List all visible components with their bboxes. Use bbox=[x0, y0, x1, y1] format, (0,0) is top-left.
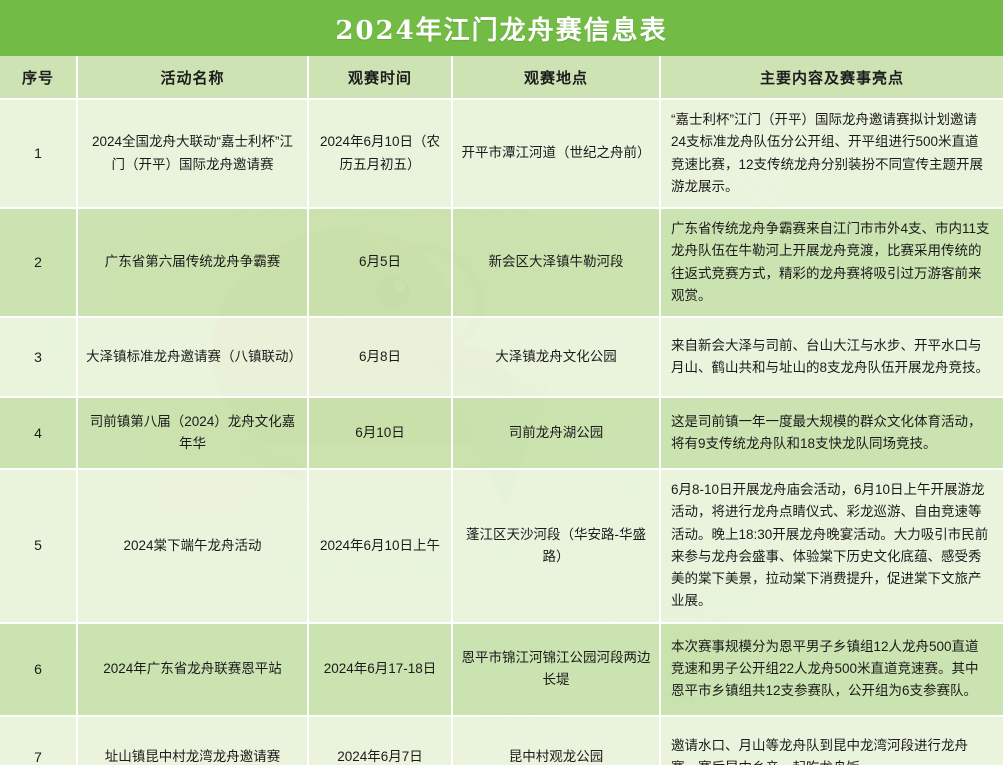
cell-event-name: 2024全国龙舟大联动“嘉士利杯”江门（开平）国际龙舟邀请赛 bbox=[77, 99, 308, 208]
cell-index: 1 bbox=[0, 99, 77, 208]
cell-event-name: 司前镇第八届（2024）龙舟文化嘉年华 bbox=[77, 397, 308, 469]
cell-highlights: 来自新会大泽与司前、台山大江与水步、开平水口与月山、鹤山共和与址山的8支龙舟队伍… bbox=[660, 317, 1003, 397]
cell-index: 2 bbox=[0, 208, 77, 317]
cell-highlights: 广东省传统龙舟争霸赛来自江门市市外4支、市内11支龙舟队伍在牛勒河上开展龙舟竞渡… bbox=[660, 208, 1003, 317]
cell-index: 4 bbox=[0, 397, 77, 469]
table-container: 序号 活动名称 观赛时间 观赛地点 主要内容及赛事亮点 1 2024全国龙舟大联… bbox=[0, 56, 1003, 765]
cell-location: 蓬江区天沙河段（华安路-华盛路） bbox=[452, 469, 660, 623]
table-row: 6 2024年广东省龙舟联赛恩平站 2024年6月17-18日 恩平市锦江河锦江… bbox=[0, 623, 1003, 716]
cell-time: 2024年6月10日上午 bbox=[308, 469, 452, 623]
page-title: 2024年江门龙舟赛信息表 bbox=[335, 10, 667, 47]
cell-event-name: 2024棠下端午龙舟活动 bbox=[77, 469, 308, 623]
cell-location: 大泽镇龙舟文化公园 bbox=[452, 317, 660, 397]
table-row: 2 广东省第六届传统龙舟争霸赛 6月5日 新会区大泽镇牛勒河段 广东省传统龙舟争… bbox=[0, 208, 1003, 317]
cell-time: 6月10日 bbox=[308, 397, 452, 469]
cell-index: 5 bbox=[0, 469, 77, 623]
page-title-bar: 2024年江门龙舟赛信息表 bbox=[0, 0, 1003, 56]
cell-index: 7 bbox=[0, 716, 77, 765]
cell-highlights: 邀请水口、月山等龙舟队到昆中龙湾河段进行龙舟赛，赛后昆中乡亲一起吃龙舟饭。 bbox=[660, 716, 1003, 765]
column-header-event-name: 活动名称 bbox=[77, 56, 308, 99]
column-header-index: 序号 bbox=[0, 56, 77, 99]
cell-event-name: 大泽镇标准龙舟邀请赛（八镇联动） bbox=[77, 317, 308, 397]
cell-event-name: 广东省第六届传统龙舟争霸赛 bbox=[77, 208, 308, 317]
cell-time: 6月8日 bbox=[308, 317, 452, 397]
cell-location: 开平市潭江河道（世纪之舟前） bbox=[452, 99, 660, 208]
cell-highlights: 本次赛事规模分为恩平男子乡镇组12人龙舟500直道竞速和男子公开组22人龙舟50… bbox=[660, 623, 1003, 716]
table-body: 1 2024全国龙舟大联动“嘉士利杯”江门（开平）国际龙舟邀请赛 2024年6月… bbox=[0, 99, 1003, 765]
table-row: 4 司前镇第八届（2024）龙舟文化嘉年华 6月10日 司前龙舟湖公园 这是司前… bbox=[0, 397, 1003, 469]
cell-time: 2024年6月17-18日 bbox=[308, 623, 452, 716]
column-header-time: 观赛时间 bbox=[308, 56, 452, 99]
table-row: 1 2024全国龙舟大联动“嘉士利杯”江门（开平）国际龙舟邀请赛 2024年6月… bbox=[0, 99, 1003, 208]
cell-highlights: 这是司前镇一年一度最大规模的群众文化体育活动，将有9支传统龙舟队和18支快龙队同… bbox=[660, 397, 1003, 469]
table-header: 序号 活动名称 观赛时间 观赛地点 主要内容及赛事亮点 bbox=[0, 56, 1003, 99]
dragon-boat-schedule-table: 序号 活动名称 观赛时间 观赛地点 主要内容及赛事亮点 1 2024全国龙舟大联… bbox=[0, 56, 1003, 765]
column-header-highlights: 主要内容及赛事亮点 bbox=[660, 56, 1003, 99]
cell-location: 恩平市锦江河锦江公园河段两边长堤 bbox=[452, 623, 660, 716]
cell-event-name: 2024年广东省龙舟联赛恩平站 bbox=[77, 623, 308, 716]
table-row: 5 2024棠下端午龙舟活动 2024年6月10日上午 蓬江区天沙河段（华安路-… bbox=[0, 469, 1003, 623]
column-header-location: 观赛地点 bbox=[452, 56, 660, 99]
cell-time: 2024年6月7日 bbox=[308, 716, 452, 765]
table-row: 7 址山镇昆中村龙湾龙舟邀请赛 2024年6月7日 昆中村观龙公园 邀请水口、月… bbox=[0, 716, 1003, 765]
page-root: 2024年江门龙舟赛信息表 序号 活动名称 观赛时间 观赛地点 主要内容及赛事亮… bbox=[0, 0, 1003, 765]
cell-index: 6 bbox=[0, 623, 77, 716]
cell-event-name: 址山镇昆中村龙湾龙舟邀请赛 bbox=[77, 716, 308, 765]
table-header-row: 序号 活动名称 观赛时间 观赛地点 主要内容及赛事亮点 bbox=[0, 56, 1003, 99]
table-row: 3 大泽镇标准龙舟邀请赛（八镇联动） 6月8日 大泽镇龙舟文化公园 来自新会大泽… bbox=[0, 317, 1003, 397]
cell-index: 3 bbox=[0, 317, 77, 397]
cell-highlights: 6月8-10日开展龙舟庙会活动，6月10日上午开展游龙活动，将进行龙舟点睛仪式、… bbox=[660, 469, 1003, 623]
cell-location: 新会区大泽镇牛勒河段 bbox=[452, 208, 660, 317]
cell-time: 6月5日 bbox=[308, 208, 452, 317]
cell-location: 司前龙舟湖公园 bbox=[452, 397, 660, 469]
cell-highlights: “嘉士利杯”江门（开平）国际龙舟邀请赛拟计划邀请24支标准龙舟队伍分公开组、开平… bbox=[660, 99, 1003, 208]
cell-time: 2024年6月10日（农历五月初五） bbox=[308, 99, 452, 208]
cell-location: 昆中村观龙公园 bbox=[452, 716, 660, 765]
